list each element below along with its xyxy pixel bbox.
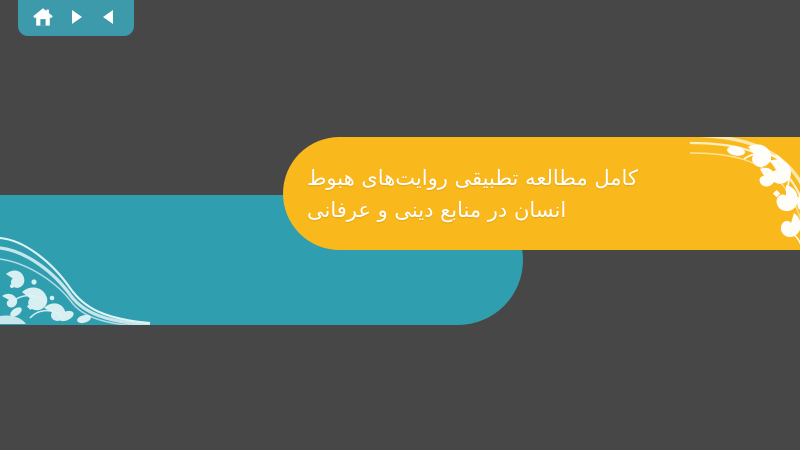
title-line-1: کامل مطالعه تطبیقی روایت‌های هبوط	[307, 163, 638, 193]
title-line-2: انسان در منابع دینی و عرفانی	[307, 195, 566, 225]
home-button[interactable]	[30, 5, 56, 29]
banner-ornament-icon	[690, 137, 800, 250]
back-button[interactable]	[96, 5, 122, 29]
home-icon	[32, 7, 54, 28]
forward-icon	[67, 8, 85, 26]
slide-canvas: کامل مطالعه تطبیقی روایت‌های هبوط انسان …	[0, 0, 800, 450]
forward-button[interactable]	[63, 5, 89, 29]
back-icon	[100, 8, 118, 26]
title-banner: کامل مطالعه تطبیقی روایت‌های هبوط انسان …	[283, 137, 800, 250]
banner-title: کامل مطالعه تطبیقی روایت‌های هبوط انسان …	[307, 137, 700, 250]
navigation-bar	[18, 0, 134, 36]
band-ornament-icon	[0, 220, 150, 325]
